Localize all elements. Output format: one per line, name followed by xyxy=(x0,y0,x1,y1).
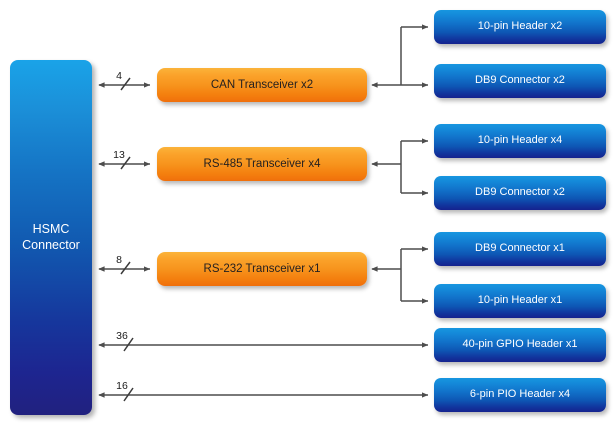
bus-label-gpio: 36 xyxy=(116,330,128,342)
can-branch-wires xyxy=(372,27,428,85)
rs232-branch-wires xyxy=(372,249,428,301)
rs485-10pin-header-label: 10-pin Header x4 xyxy=(478,134,562,148)
bus-label-can: 4 xyxy=(116,70,122,82)
bus-can-hsmc-link xyxy=(99,78,150,90)
can-10pin-header-block[interactable]: 10-pin Header x2 xyxy=(434,10,606,44)
hsmc-connector-block[interactable]: HSMC Connector xyxy=(10,60,92,415)
bus-gpio-link xyxy=(99,338,428,351)
can-10pin-header-label: 10-pin Header x2 xyxy=(478,20,562,34)
bus-label-rs485: 13 xyxy=(113,149,125,161)
bus-label-rs232: 8 xyxy=(116,254,122,266)
bus-pio-link xyxy=(99,388,428,401)
rs485-branch-wires xyxy=(372,141,428,193)
hsmc-label-line1: HSMC xyxy=(33,222,70,238)
hsmc-label-line2: Connector xyxy=(22,238,80,254)
pio-header-block[interactable]: 6-pin PIO Header x4 xyxy=(434,378,606,412)
rs232-db9-connector-label: DB9 Connector x1 xyxy=(475,242,565,256)
pio-header-label: 6-pin PIO Header x4 xyxy=(470,388,570,402)
block-diagram: 4 13 8 36 16 HSMC Connector CAN Transcei… xyxy=(0,0,616,426)
rs485-db9-connector-label: DB9 Connector x2 xyxy=(475,186,565,200)
rs485-db9-connector-block[interactable]: DB9 Connector x2 xyxy=(434,176,606,210)
can-db9-connector-label: DB9 Connector x2 xyxy=(475,74,565,88)
rs232-10pin-header-block[interactable]: 10-pin Header x1 xyxy=(434,284,606,318)
can-transceiver-label: CAN Transceiver x2 xyxy=(211,78,313,92)
rs485-transceiver-label: RS-485 Transceiver x4 xyxy=(204,157,321,171)
rs232-transceiver-block[interactable]: RS-232 Transceiver x1 xyxy=(157,252,367,286)
rs232-transceiver-label: RS-232 Transceiver x1 xyxy=(204,262,321,276)
can-db9-connector-block[interactable]: DB9 Connector x2 xyxy=(434,64,606,98)
bus-label-pio: 16 xyxy=(116,380,128,392)
gpio-header-block[interactable]: 40-pin GPIO Header x1 xyxy=(434,328,606,362)
bus-rs485-hsmc-link xyxy=(99,157,150,169)
bus-rs232-hsmc-link xyxy=(99,262,150,274)
rs232-db9-connector-block[interactable]: DB9 Connector x1 xyxy=(434,232,606,266)
gpio-header-label: 40-pin GPIO Header x1 xyxy=(463,338,578,352)
can-transceiver-block[interactable]: CAN Transceiver x2 xyxy=(157,68,367,102)
rs232-10pin-header-label: 10-pin Header x1 xyxy=(478,294,562,308)
rs485-10pin-header-block[interactable]: 10-pin Header x4 xyxy=(434,124,606,158)
rs485-transceiver-block[interactable]: RS-485 Transceiver x4 xyxy=(157,147,367,181)
